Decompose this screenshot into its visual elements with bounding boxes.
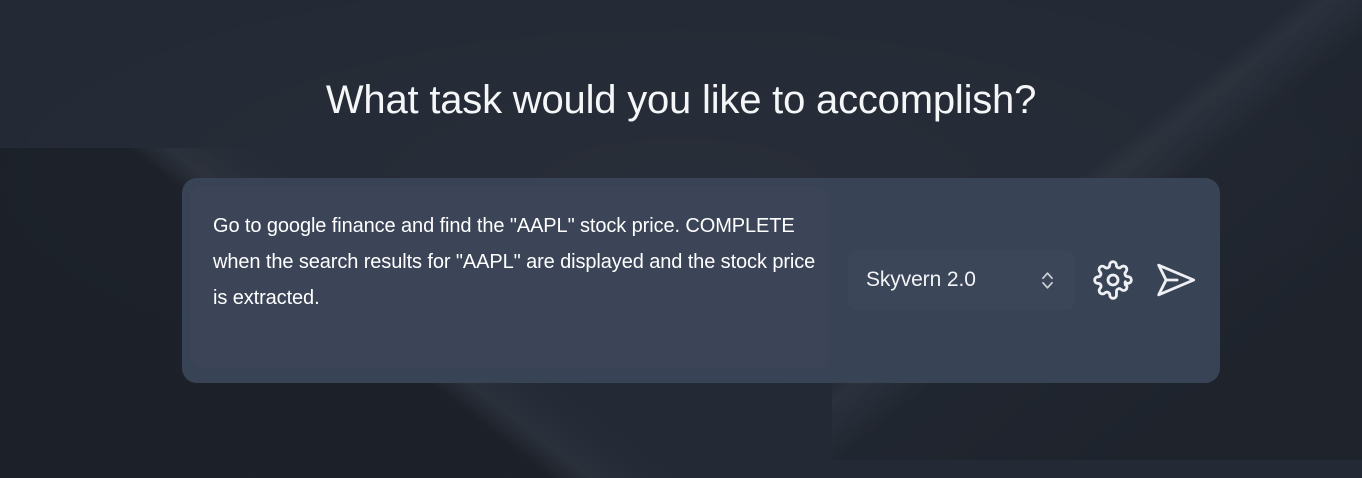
prompt-input-container [182, 178, 828, 383]
prompt-controls: Skyvern 2.0 [848, 250, 1203, 310]
chevron-up-down-icon [1040, 269, 1055, 292]
settings-button[interactable] [1089, 256, 1137, 304]
main-content: What task would you like to accomplish? … [0, 0, 1362, 478]
gear-icon [1093, 260, 1133, 300]
app-root: What task would you like to accomplish? … [0, 0, 1362, 478]
send-icon [1153, 258, 1199, 302]
page-title: What task would you like to accomplish? [0, 74, 1362, 126]
send-button[interactable] [1149, 256, 1203, 304]
task-prompt-input[interactable] [213, 208, 828, 368]
model-select[interactable]: Skyvern 2.0 [848, 250, 1075, 310]
model-select-value: Skyvern 2.0 [866, 267, 976, 293]
